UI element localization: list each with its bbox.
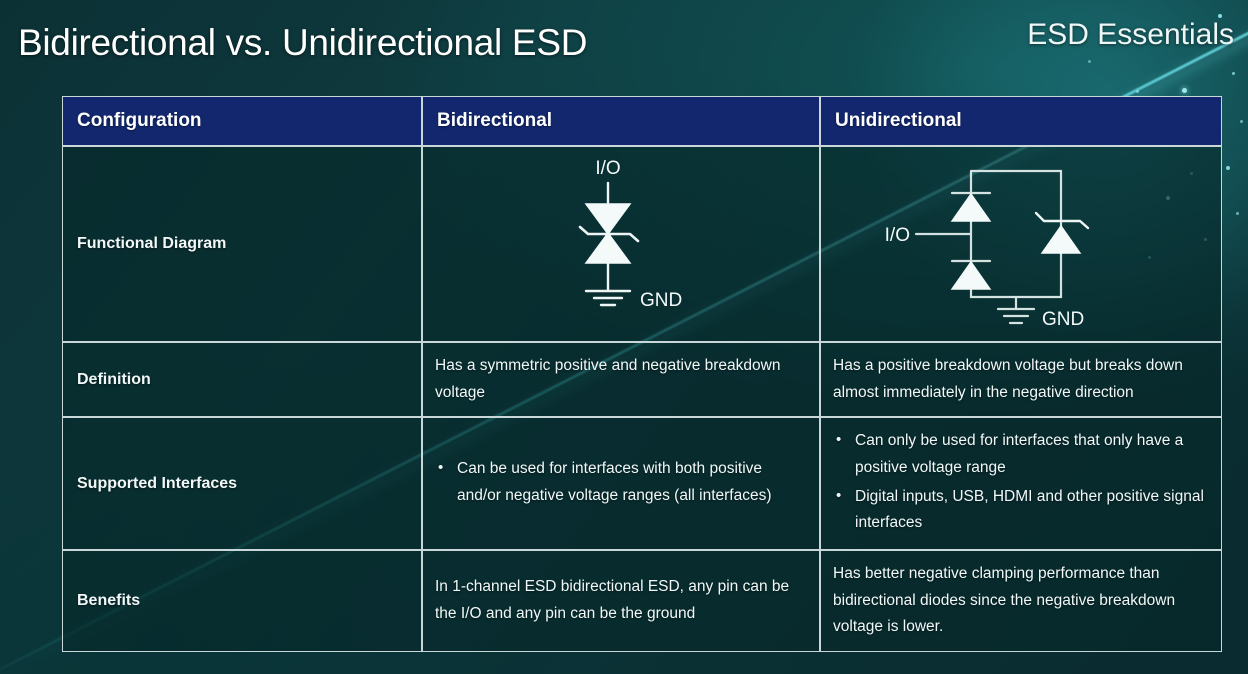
bullet-list-bidirectional: Can be used for interfaces with both pos…	[435, 456, 807, 509]
cell-supported-interfaces-bidirectional: Can be used for interfaces with both pos…	[422, 417, 820, 550]
gnd-label: GND	[640, 290, 682, 311]
star-dot	[1226, 166, 1230, 170]
table-row: Definition Has a symmetric positive and …	[62, 342, 1222, 417]
cell-supported-interfaces-unidirectional: Can only be used for interfaces that onl…	[820, 417, 1222, 550]
table-header: Configuration Bidirectional Unidirection…	[62, 96, 1222, 146]
list-item: Digital inputs, USB, HDMI and other posi…	[833, 484, 1209, 537]
column-header-unidirectional: Unidirectional	[820, 96, 1222, 146]
star-dot	[1088, 60, 1091, 63]
list-item: Can be used for interfaces with both pos…	[435, 456, 807, 509]
bullet-list-unidirectional: Can only be used for interfaces that onl…	[833, 428, 1209, 537]
table-header-row: Configuration Bidirectional Unidirection…	[62, 96, 1222, 146]
bidirectional-tvs-diode-schematic: I/O GND	[516, 149, 726, 339]
row-label-definition: Definition	[62, 342, 422, 417]
page-title: Bidirectional vs. Unidirectional ESD	[18, 22, 587, 64]
star-dot	[1240, 120, 1243, 123]
cell-benefits-unidirectional: Has better negative clamping performance…	[820, 550, 1222, 652]
cell-benefits-bidirectional: In 1-channel ESD bidirectional ESD, any …	[422, 550, 820, 652]
column-header-configuration: Configuration	[62, 96, 422, 146]
cell-definition-bidirectional: Has a symmetric positive and negative br…	[422, 342, 820, 417]
gnd-label: GND	[1042, 309, 1084, 330]
comparison-table: Configuration Bidirectional Unidirection…	[62, 96, 1222, 652]
row-label-benefits: Benefits	[62, 550, 422, 652]
list-item: Can only be used for interfaces that onl…	[833, 428, 1209, 481]
star-dot	[1236, 212, 1239, 215]
column-header-bidirectional: Bidirectional	[422, 96, 820, 146]
row-label-supported-interfaces: Supported Interfaces	[62, 417, 422, 550]
cell-bidirectional-diagram: I/O GND	[422, 146, 820, 342]
cell-unidirectional-diagram: I/O GND	[820, 146, 1222, 342]
unidirectional-steering-diode-schematic: I/O GND	[876, 149, 1166, 339]
cell-definition-unidirectional: Has a positive breakdown voltage but bre…	[820, 342, 1222, 417]
table-row: Benefits In 1-channel ESD bidirectional …	[62, 550, 1222, 652]
io-label: I/O	[885, 225, 910, 246]
star-dot	[1232, 72, 1235, 75]
row-label-functional-diagram: Functional Diagram	[62, 146, 422, 342]
io-label: I/O	[595, 158, 620, 179]
slide-kicker: ESD Essentials	[1027, 18, 1234, 52]
star-dot	[1136, 90, 1139, 93]
table-row: Functional Diagram	[62, 146, 1222, 342]
star-dot	[1182, 88, 1187, 93]
table-row: Supported Interfaces Can be used for int…	[62, 417, 1222, 550]
slide-canvas: Bidirectional vs. Unidirectional ESD ESD…	[0, 0, 1248, 674]
table-body: Functional Diagram	[62, 146, 1222, 652]
